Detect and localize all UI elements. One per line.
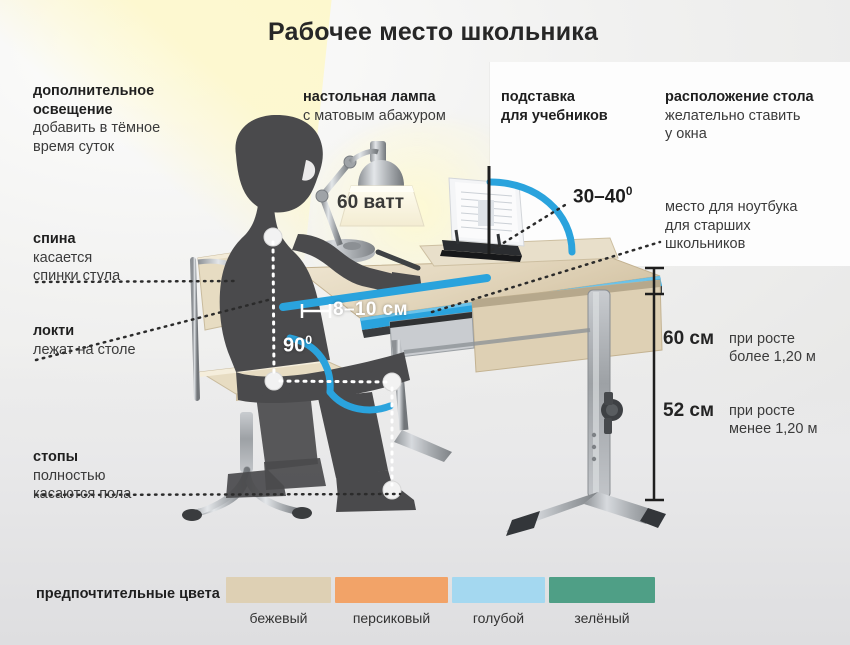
color-swatch-chip [452,577,545,603]
callout-laptop-line-2: для старших [665,217,850,236]
callout-lighting: дополнительное освещение добавить в тёмн… [33,82,233,156]
color-swatch-item: голубой [452,577,545,626]
callout-desk-placement: расположение стола желательно ставить у … [665,88,850,144]
callout-feet-body-1: полностью [33,467,243,486]
color-swatch-chip [335,577,448,603]
book-stand [440,178,524,262]
callout-feet-body-2: касаются пола [33,485,243,504]
infographic-poster: Рабочее место школьника дополнительное о… [0,0,850,645]
measurement-60cm: 60 смпри ростеболее 1,20 м [663,328,816,367]
annotation-stand-angle-unit: 0 [626,185,633,198]
annotation-stand-angle: 30–400 [573,185,632,208]
annotation-desk-gap: 8–10 см [333,299,408,321]
measurement-60cm-value: 60 см [663,328,729,350]
measurement-52cm-note-1: при росте [729,403,795,419]
color-swatch-item: зелёный [549,577,655,626]
callout-elbows-heading: локти [33,322,233,341]
annotation-knee-angle-value: 90 [283,335,305,357]
measurement-60cm-note: при ростеболее 1,20 м [729,328,816,367]
annotation-lamp-wattage: 60 ватт [337,192,404,214]
color-swatch-chip [226,577,331,603]
color-swatch-chip [549,577,655,603]
color-swatch-item: бежевый [226,577,331,626]
annotation-knee-angle-unit: 0 [305,333,312,347]
callout-laptop-line-3: школьников [665,235,850,254]
callout-lighting-heading-2: освещение [33,101,233,120]
color-swatch-list: бежевыйперсиковыйголубойзелёный [226,577,655,626]
callout-laptop-space: место для ноутбука для старших школьнико… [665,198,850,254]
color-swatch-item: персиковый [335,577,448,626]
measurement-52cm: 52 смпри ростеменее 1,20 м [663,400,817,439]
callout-book-stand: подставка для учебников [501,88,671,125]
color-swatch-label: бежевый [250,610,308,626]
callout-elbows-body: лежат на столе [33,341,233,360]
annotation-stand-angle-value: 30–40 [573,186,626,207]
callout-lamp: настольная лампа с матовым абажуром [303,88,493,125]
callout-lamp-body: с матовым абажуром [303,107,493,126]
callout-lighting-heading-1: дополнительное [33,82,233,101]
callout-book-stand-heading-1: подставка [501,88,671,107]
page-title: Рабочее место школьника [268,18,598,47]
callout-lighting-body-2: время суток [33,138,233,157]
callout-back-body-2: спинки стула [33,267,223,286]
color-swatch-label: голубой [473,610,524,626]
measurement-60cm-note-2: более 1,20 м [729,349,816,365]
color-swatch-label: персиковый [353,610,430,626]
color-swatch-label: зелёный [574,610,629,626]
callout-feet-heading: стопы [33,448,243,467]
callout-lamp-heading: настольная лампа [303,88,493,107]
callout-book-stand-heading-2: для учебников [501,107,671,126]
measurement-52cm-value: 52 см [663,400,729,422]
callout-laptop-line-1: место для ноутбука [665,198,850,217]
callout-desk-placement-body-2: у окна [665,125,850,144]
callout-desk-placement-heading: расположение стола [665,88,850,107]
measurement-52cm-note: при ростеменее 1,20 м [729,400,817,439]
measurement-52cm-note-2: менее 1,20 м [729,421,817,437]
callout-elbows: локти лежат на столе [33,322,233,359]
callout-back-body-1: касается [33,249,223,268]
callout-lighting-body-1: добавить в тёмное [33,119,233,138]
measurement-60cm-note-1: при росте [729,331,795,347]
callout-desk-placement-body-1: желательно ставить [665,107,850,126]
callout-feet: стопы полностью касаются пола [33,448,243,504]
callout-back-heading: спина [33,230,223,249]
callout-back: спина касается спинки стула [33,230,223,286]
annotation-knee-angle: 900 [283,333,312,358]
legend-label: предпочтительные цвета [36,586,220,602]
